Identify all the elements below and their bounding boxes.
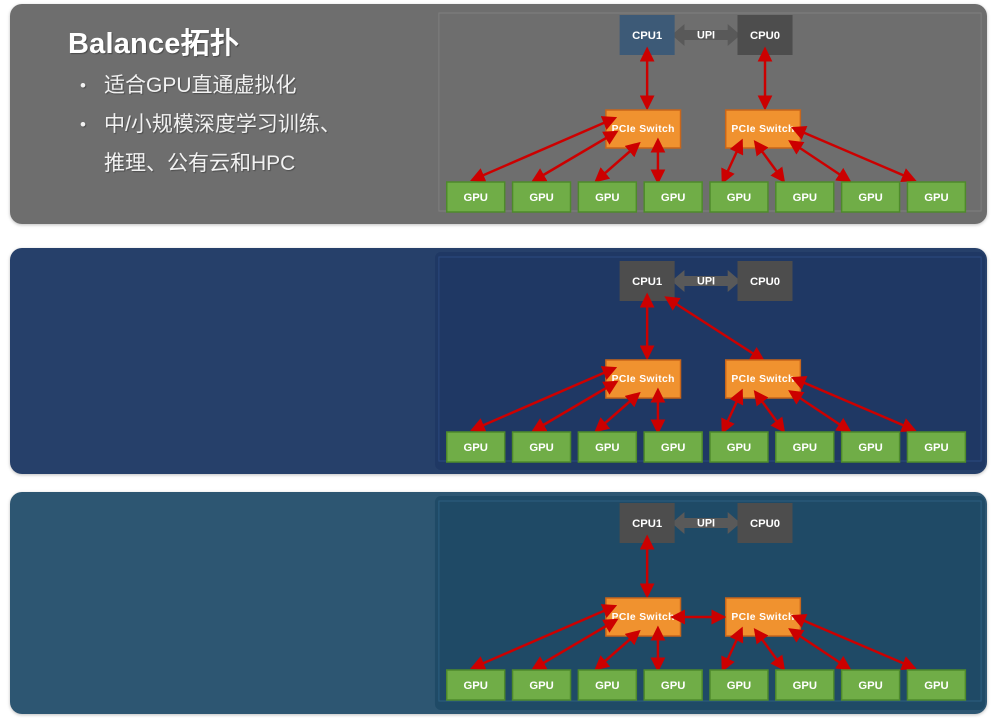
cpu0-label: CPU0 bbox=[750, 276, 780, 288]
gpu-label: GPU bbox=[924, 680, 948, 692]
gpu-label: GPU bbox=[793, 442, 817, 454]
gpu-label: GPU bbox=[858, 192, 882, 204]
pcie-switch-right-label: PCIe Switch bbox=[731, 374, 794, 385]
gpu-label: GPU bbox=[595, 442, 619, 454]
gpu-label: GPU bbox=[595, 192, 619, 204]
gpu-label: GPU bbox=[793, 680, 817, 692]
pcie-switch-right-label: PCIe Switch bbox=[731, 612, 794, 623]
cpu1-label: CPU1 bbox=[632, 518, 663, 530]
gpu-label: GPU bbox=[464, 680, 488, 692]
slide-canvas: UPI CPU1 CPU0 PCIe Switch PCIe Switch bbox=[0, 0, 997, 718]
bullet-item: 适合GPU直通虚拟化 bbox=[76, 66, 436, 105]
gpu-label: GPU bbox=[924, 192, 948, 204]
panel-cascade-text bbox=[10, 492, 433, 714]
panel-cascade: UPI CPU1 CPU0 PCIe Switch PCIe Switch bbox=[10, 492, 987, 714]
gpu-label: GPU bbox=[727, 442, 751, 454]
gpu-label: GPU bbox=[464, 192, 488, 204]
gpu-label: GPU bbox=[924, 442, 948, 454]
upi-label: UPI bbox=[697, 29, 715, 41]
panel-cascade-diagram: UPI CPU1 CPU0 PCIe Switch PCIe Switch bbox=[433, 492, 987, 714]
gpu-label: GPU bbox=[661, 442, 685, 454]
bullet-item: 中/小规模深度学习训练、 推理、公有云和HPC bbox=[76, 105, 436, 183]
gpu-label: GPU bbox=[858, 442, 882, 454]
gpu-label: GPU bbox=[661, 192, 685, 204]
panel-balance-diagram: UPI CPU1 CPU0 PCIe Switch PCIe Switch bbox=[433, 4, 987, 224]
gpu-label: GPU bbox=[464, 442, 488, 454]
pcie-switch-right-label: PCIe Switch bbox=[731, 124, 794, 135]
gpu-label: GPU bbox=[529, 442, 553, 454]
gpu-label: GPU bbox=[727, 192, 751, 204]
gpu-label: GPU bbox=[661, 680, 685, 692]
panel-common-diagram: UPI CPU1 CPU0 PCIe Switch PCIe Switch bbox=[433, 248, 987, 474]
cpu0-label: CPU0 bbox=[750, 518, 780, 530]
panel-title-balance: Balance拓扑 bbox=[68, 20, 239, 62]
cpu1-label: CPU1 bbox=[632, 276, 663, 288]
gpu-label: GPU bbox=[529, 680, 553, 692]
pcie-switch-left-label: PCIe Switch bbox=[612, 374, 675, 385]
gpu-label: GPU bbox=[858, 680, 882, 692]
gpu-label: GPU bbox=[595, 680, 619, 692]
panel-bullets-balance: 适合GPU直通虚拟化中/小规模深度学习训练、 推理、公有云和HPC bbox=[76, 66, 436, 183]
pcie-switch-left-label: PCIe Switch bbox=[612, 124, 675, 135]
cpu0-label: CPU0 bbox=[750, 30, 780, 42]
panel-balance: UPI CPU1 CPU0 PCIe Switch PCIe Switch bbox=[10, 4, 987, 224]
upi-label: UPI bbox=[697, 275, 715, 287]
cpu1-label: CPU1 bbox=[632, 30, 663, 42]
panel-common: UPI CPU1 CPU0 PCIe Switch PCIe Switch bbox=[10, 248, 987, 474]
gpu-label: GPU bbox=[727, 680, 751, 692]
gpu-label: GPU bbox=[793, 192, 817, 204]
upi-label: UPI bbox=[697, 517, 715, 529]
panel-common-text bbox=[10, 248, 433, 474]
pcie-switch-left-label: PCIe Switch bbox=[612, 612, 675, 623]
gpu-label: GPU bbox=[529, 192, 553, 204]
